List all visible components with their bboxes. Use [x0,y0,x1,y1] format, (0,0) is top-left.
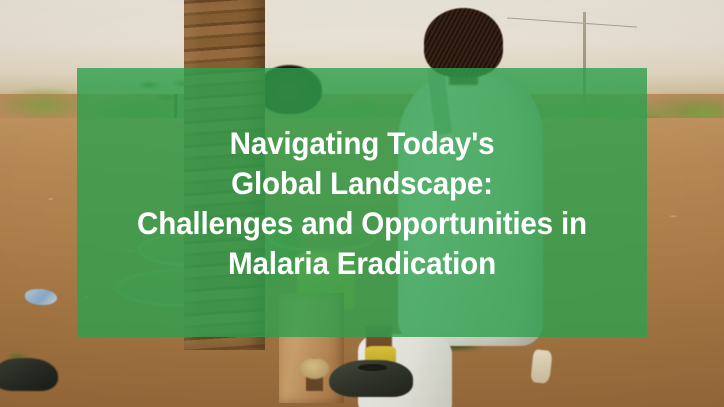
title-line-2: Global Landscape: [100,163,625,203]
title-line-3: Challenges and Opportunities in [100,203,625,243]
page-title: Navigating Today's Global Landscape: Cha… [94,123,630,283]
green-overlay-panel: Navigating Today's Global Landscape: Cha… [77,68,647,337]
title-line-4: Malaria Eradication [100,243,625,283]
title-line-1: Navigating Today's [100,123,625,163]
title-card: Navigating Today's Global Landscape: Cha… [0,0,724,407]
